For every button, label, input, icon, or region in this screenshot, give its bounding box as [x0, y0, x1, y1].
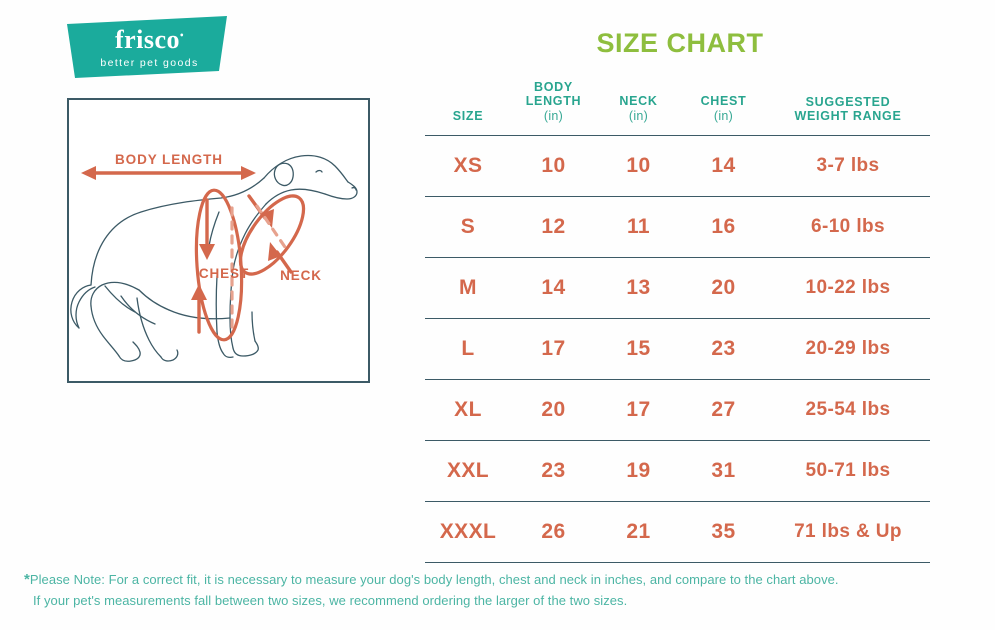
body-length-cell: 20 — [511, 380, 596, 441]
column-header-body-length-unit: (in) — [511, 109, 596, 123]
frisco-logo: frisco• better pet goods — [67, 16, 232, 78]
column-header-weight: SUGGESTED WEIGHT RANGE — [766, 80, 930, 136]
column-header-weight-l1: SUGGESTED — [806, 95, 891, 109]
body-length-cell: 10 — [511, 136, 596, 197]
body-length-cell: 12 — [511, 197, 596, 258]
size-cell: XXL — [425, 441, 511, 502]
neck-cell: 19 — [596, 441, 681, 502]
column-header-chest-unit: (in) — [681, 109, 766, 123]
table-row: XXL23193150-71 lbs — [425, 441, 930, 502]
logo-wordmark: frisco• — [67, 27, 232, 53]
column-header-neck-label: NECK — [619, 94, 657, 108]
size-chart-table: SIZE BODY LENGTH (in) NECK (in) CHEST (i… — [425, 80, 930, 563]
column-header-body-length-l2: LENGTH — [526, 94, 582, 108]
label-neck: NECK — [280, 268, 322, 283]
body-length-arrow-icon — [81, 166, 256, 180]
dog-measurement-diagram: BODY LENGTH CHEST NECK — [67, 98, 370, 383]
column-header-neck: NECK (in) — [596, 80, 681, 136]
weight-range-cell: 3-7 lbs — [766, 136, 930, 197]
footnote-line-1: Please Note: For a correct fit, it is ne… — [30, 572, 839, 587]
chest-cell: 35 — [681, 502, 766, 563]
weight-range-cell: 71 lbs & Up — [766, 502, 930, 563]
table-body: XS1010143-7 lbsS1211166-10 lbsM14132010-… — [425, 136, 930, 563]
column-header-weight-l2: WEIGHT RANGE — [794, 109, 901, 123]
body-length-cell: 26 — [511, 502, 596, 563]
measurement-annotations — [81, 166, 315, 341]
weight-range-cell: 10-22 lbs — [766, 258, 930, 319]
neck-cell: 17 — [596, 380, 681, 441]
footnote-line-2: If your pet's measurements fall between … — [24, 591, 974, 611]
chest-cell: 27 — [681, 380, 766, 441]
chest-cell: 16 — [681, 197, 766, 258]
column-header-chest-label: CHEST — [701, 94, 747, 108]
table-row: XL20172725-54 lbs — [425, 380, 930, 441]
chest-cell: 31 — [681, 441, 766, 502]
column-header-chest: CHEST (in) — [681, 80, 766, 136]
page-title: SIZE CHART — [430, 30, 930, 57]
neck-cell: 13 — [596, 258, 681, 319]
size-cell: S — [425, 197, 511, 258]
neck-cell: 10 — [596, 136, 681, 197]
column-header-neck-unit: (in) — [596, 109, 681, 123]
table-row: M14132010-22 lbs — [425, 258, 930, 319]
column-header-body-length-l1: BODY — [534, 80, 573, 94]
body-length-cell: 14 — [511, 258, 596, 319]
logo-tagline: better pet goods — [67, 58, 232, 69]
weight-range-cell: 20-29 lbs — [766, 319, 930, 380]
column-header-size: SIZE — [425, 80, 511, 136]
neck-cell: 21 — [596, 502, 681, 563]
footnote: *Please Note: For a correct fit, it is n… — [24, 568, 974, 611]
weight-range-cell: 50-71 lbs — [766, 441, 930, 502]
chest-cell: 20 — [681, 258, 766, 319]
chest-cell: 14 — [681, 136, 766, 197]
column-header-body-length: BODY LENGTH (in) — [511, 80, 596, 136]
table-row: XXXL26213571 lbs & Up — [425, 502, 930, 563]
size-cell: L — [425, 319, 511, 380]
label-chest: CHEST — [199, 266, 249, 281]
size-cell: XXXL — [425, 502, 511, 563]
size-cell: M — [425, 258, 511, 319]
body-length-cell: 23 — [511, 441, 596, 502]
chest-cell: 23 — [681, 319, 766, 380]
logo-wordmark-text: frisco — [115, 25, 180, 54]
table-row: XS1010143-7 lbs — [425, 136, 930, 197]
body-length-cell: 17 — [511, 319, 596, 380]
weight-range-cell: 25-54 lbs — [766, 380, 930, 441]
neck-cell: 15 — [596, 319, 681, 380]
table-header: SIZE BODY LENGTH (in) NECK (in) CHEST (i… — [425, 80, 930, 136]
table-row: S1211166-10 lbs — [425, 197, 930, 258]
label-body-length: BODY LENGTH — [115, 152, 223, 167]
weight-range-cell: 6-10 lbs — [766, 197, 930, 258]
neck-cell: 11 — [596, 197, 681, 258]
column-header-size-label: SIZE — [453, 109, 484, 123]
logo-registered-icon: • — [180, 30, 184, 41]
table-row: L17152320-29 lbs — [425, 319, 930, 380]
dog-illustration: BODY LENGTH CHEST NECK — [69, 100, 368, 381]
size-cell: XL — [425, 380, 511, 441]
table-header-row: SIZE BODY LENGTH (in) NECK (in) CHEST (i… — [425, 80, 930, 136]
size-cell: XS — [425, 136, 511, 197]
